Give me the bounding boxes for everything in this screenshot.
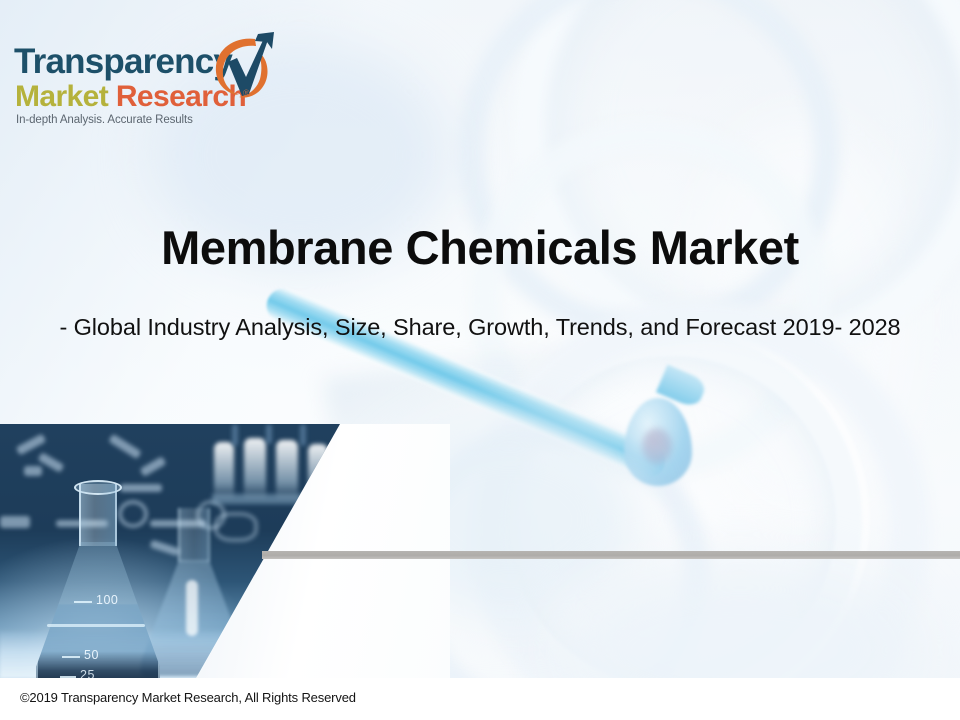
logo-text-market: Market: [15, 80, 108, 113]
chalkboard-stroke: [139, 456, 166, 477]
copyright-text: ©2019 Transparency Market Research, All …: [20, 690, 356, 705]
flask-neck: [178, 508, 210, 562]
test-tube: [214, 442, 234, 500]
checkmark-arrow-swoosh-icon: [206, 32, 278, 110]
flask-liquid-surface: [47, 624, 145, 627]
company-logo[interactable]: Transparency Market Research In-depth An…: [14, 26, 266, 126]
flask-graduation-25: 25: [80, 668, 95, 678]
test-tube: [244, 438, 266, 500]
flask-graduation-50: 50: [84, 648, 99, 662]
slide-canvas: 100 50 25 Transparency Market Research I…: [0, 0, 960, 720]
rack-post: [266, 424, 272, 444]
chalkboard-stroke: [108, 434, 142, 460]
page-subtitle: - Global Industry Analysis, Size, Share,…: [0, 313, 960, 341]
flask-neck: [79, 484, 117, 546]
registered-trademark-icon: ®: [243, 88, 250, 98]
flask-stirrer: [186, 580, 198, 636]
rack-post: [232, 424, 238, 446]
flask-graduation-tick: [74, 601, 92, 603]
logo-text-transparency: Transparency: [14, 44, 232, 79]
chalkboard-stroke: [0, 516, 30, 528]
test-tube: [276, 440, 298, 500]
footer-bar: ©2019 Transparency Market Research, All …: [0, 678, 960, 720]
foreground-erlenmeyer-flask: 100 50 25: [36, 484, 156, 678]
chalkboard-stroke: [24, 466, 42, 476]
rack-post: [300, 424, 306, 446]
flask-graduation-100: 100: [96, 593, 118, 607]
page-title: Membrane Chemicals Market: [0, 223, 960, 274]
flask-graduation-tick: [62, 656, 80, 658]
logo-tagline: In-depth Analysis. Accurate Results: [16, 114, 193, 126]
gray-divider-bar: [262, 551, 960, 559]
